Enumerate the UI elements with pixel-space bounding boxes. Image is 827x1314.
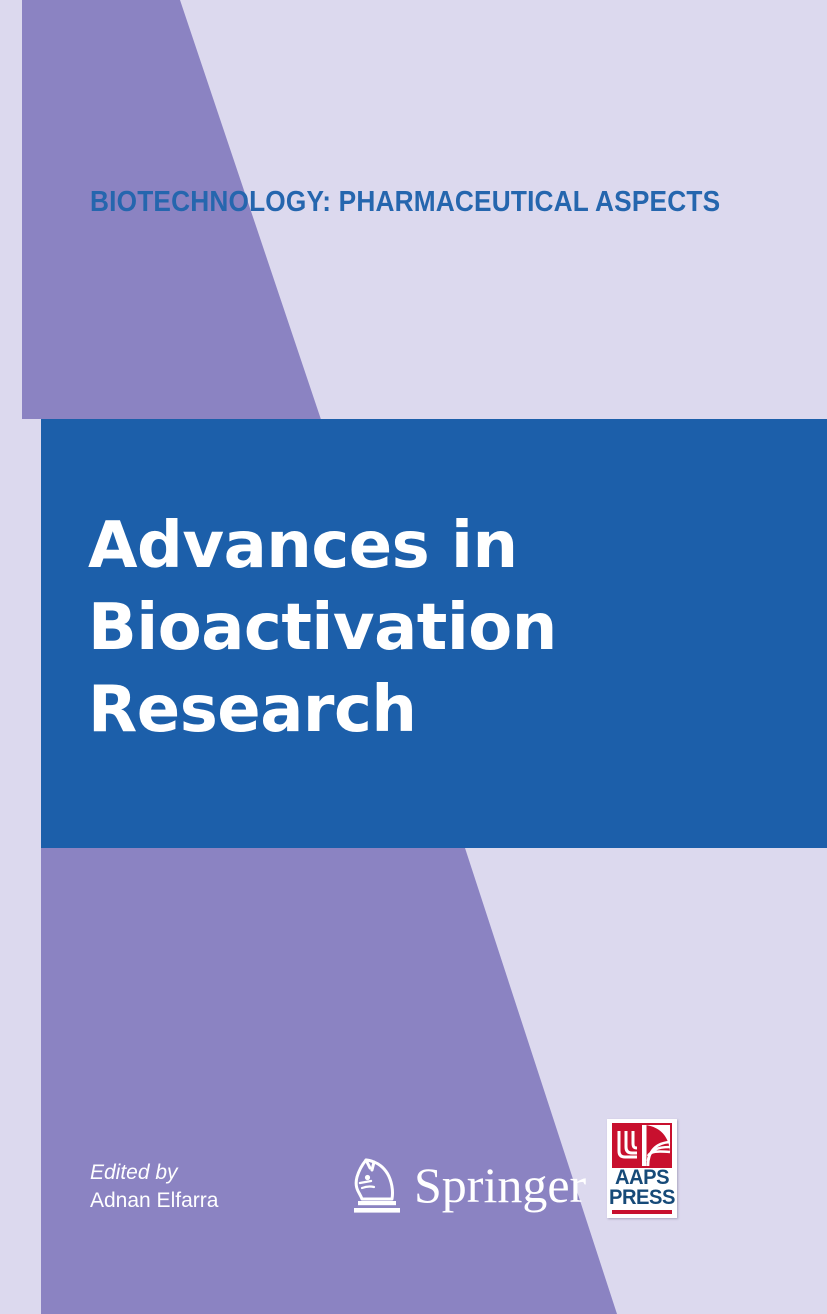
aaps-press-logo: AAPS PRESS (607, 1119, 677, 1218)
page-title: Advances in Bioactivation Research (88, 505, 778, 751)
aaps-press-wordmark: AAPS PRESS (607, 1168, 677, 1208)
springer-wordmark: Springer (414, 1160, 586, 1210)
title-line-1: Advances in (88, 505, 778, 587)
aaps-line-1: AAPS (608, 1168, 675, 1188)
springer-knight-icon (348, 1152, 404, 1216)
series-title: BIOTECHNOLOGY: PHARMACEUTICAL ASPECTS (90, 186, 724, 219)
springer-logo: Springer (348, 1148, 586, 1216)
editor-credit: Edited by Adnan Elfarra (90, 1159, 218, 1215)
aaps-red-rule (612, 1210, 672, 1214)
title-line-2: Bioactivation (88, 587, 778, 669)
edited-by-label: Edited by (90, 1159, 218, 1187)
aaps-press-mark-icon (612, 1123, 672, 1168)
editor-name: Adnan Elfarra (90, 1187, 218, 1215)
book-cover: BIOTECHNOLOGY: PHARMACEUTICAL ASPECTS Ad… (0, 0, 827, 1314)
title-line-3: Research (88, 669, 778, 751)
aaps-line-2: PRESS (608, 1188, 675, 1208)
